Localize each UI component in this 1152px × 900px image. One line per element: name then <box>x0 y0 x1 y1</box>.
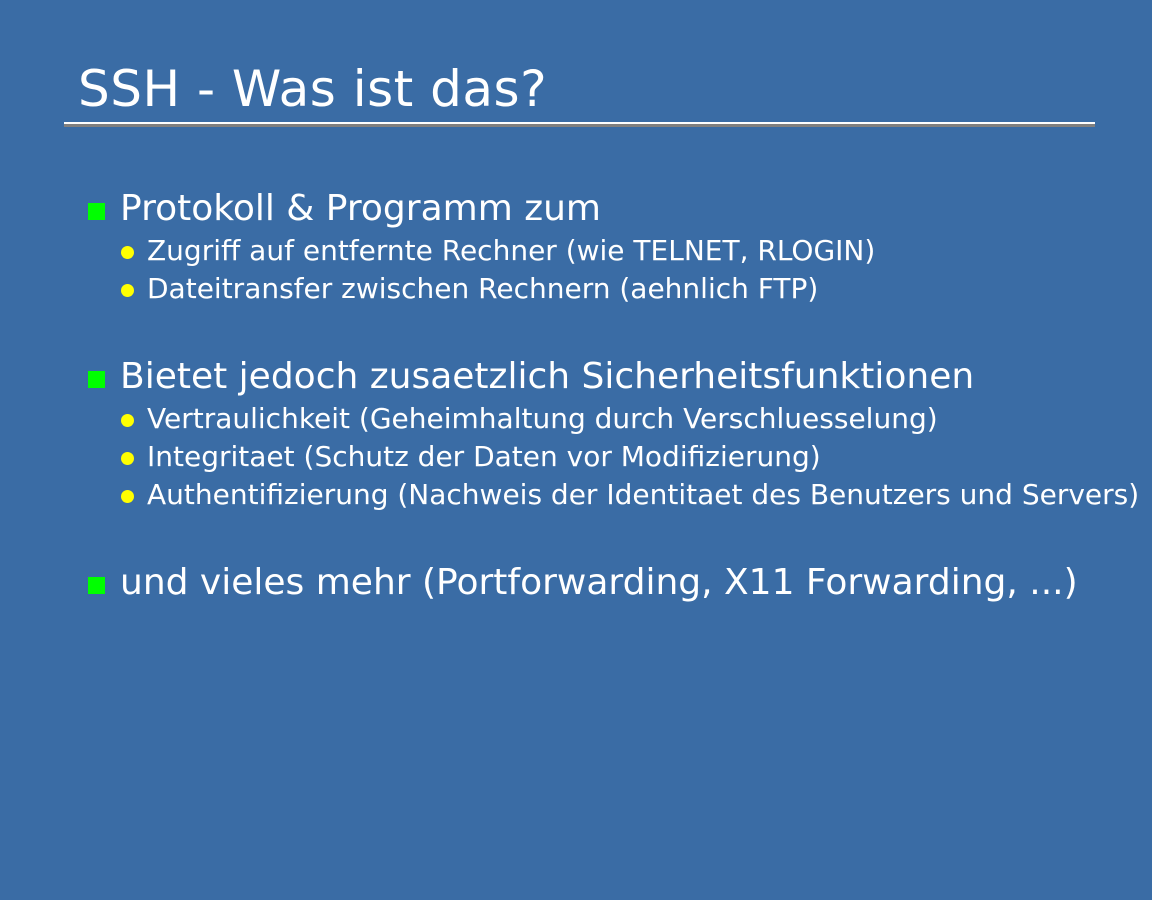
bullet-level1-label: und vieles mehr (Portforwarding, X11 For… <box>120 560 1152 606</box>
presentation-slide: SSH - Was ist das? Protokoll & Programm … <box>0 0 1152 900</box>
dot-bullet-icon <box>121 246 134 259</box>
square-bullet-icon <box>88 371 105 388</box>
bullet-level2-label: Authentifizierung (Nachweis der Identita… <box>147 476 1152 514</box>
bullet-level2: Zugriff auf entfernte Rechner (wie TELNE… <box>0 232 1152 270</box>
bullet-level2: Vertraulichkeit (Geheimhaltung durch Ver… <box>0 400 1152 438</box>
bullet-group: Bietet jedoch zusaetzlich Sicherheitsfun… <box>0 354 1152 514</box>
slide-body: Protokoll & Programm zum Zugriff auf ent… <box>0 186 1152 606</box>
square-bullet-icon <box>88 203 105 220</box>
bullet-level1-label: Protokoll & Programm zum <box>120 186 1152 232</box>
bullet-group: und vieles mehr (Portforwarding, X11 For… <box>0 560 1152 606</box>
bullet-level1: Bietet jedoch zusaetzlich Sicherheitsfun… <box>0 354 1152 400</box>
bullet-group: Protokoll & Programm zum Zugriff auf ent… <box>0 186 1152 308</box>
dot-bullet-icon <box>121 452 134 465</box>
bullet-level2: Integritaet (Schutz der Daten vor Modifi… <box>0 438 1152 476</box>
dot-bullet-icon <box>121 414 134 427</box>
bullet-level2-label: Vertraulichkeit (Geheimhaltung durch Ver… <box>147 400 1152 438</box>
bullet-level2-label: Integritaet (Schutz der Daten vor Modifi… <box>147 438 1152 476</box>
bullet-level2: Dateitransfer zwischen Rechnern (aehnlic… <box>0 270 1152 308</box>
bullet-level1-label: Bietet jedoch zusaetzlich Sicherheitsfun… <box>120 354 1152 400</box>
bullet-level2-label: Dateitransfer zwischen Rechnern (aehnlic… <box>147 270 1152 308</box>
title-underline-rule <box>64 122 1095 127</box>
bullet-level1: und vieles mehr (Portforwarding, X11 For… <box>0 560 1152 606</box>
dot-bullet-icon <box>121 490 134 503</box>
bullet-level1: Protokoll & Programm zum <box>0 186 1152 232</box>
square-bullet-icon <box>88 577 105 594</box>
title-block: SSH - Was ist das? <box>64 58 1096 127</box>
bullet-level2-label: Zugriff auf entfernte Rechner (wie TELNE… <box>147 232 1152 270</box>
bullet-level2: Authentifizierung (Nachweis der Identita… <box>0 476 1152 514</box>
dot-bullet-icon <box>121 284 134 297</box>
page-title: SSH - Was ist das? <box>64 58 1096 120</box>
